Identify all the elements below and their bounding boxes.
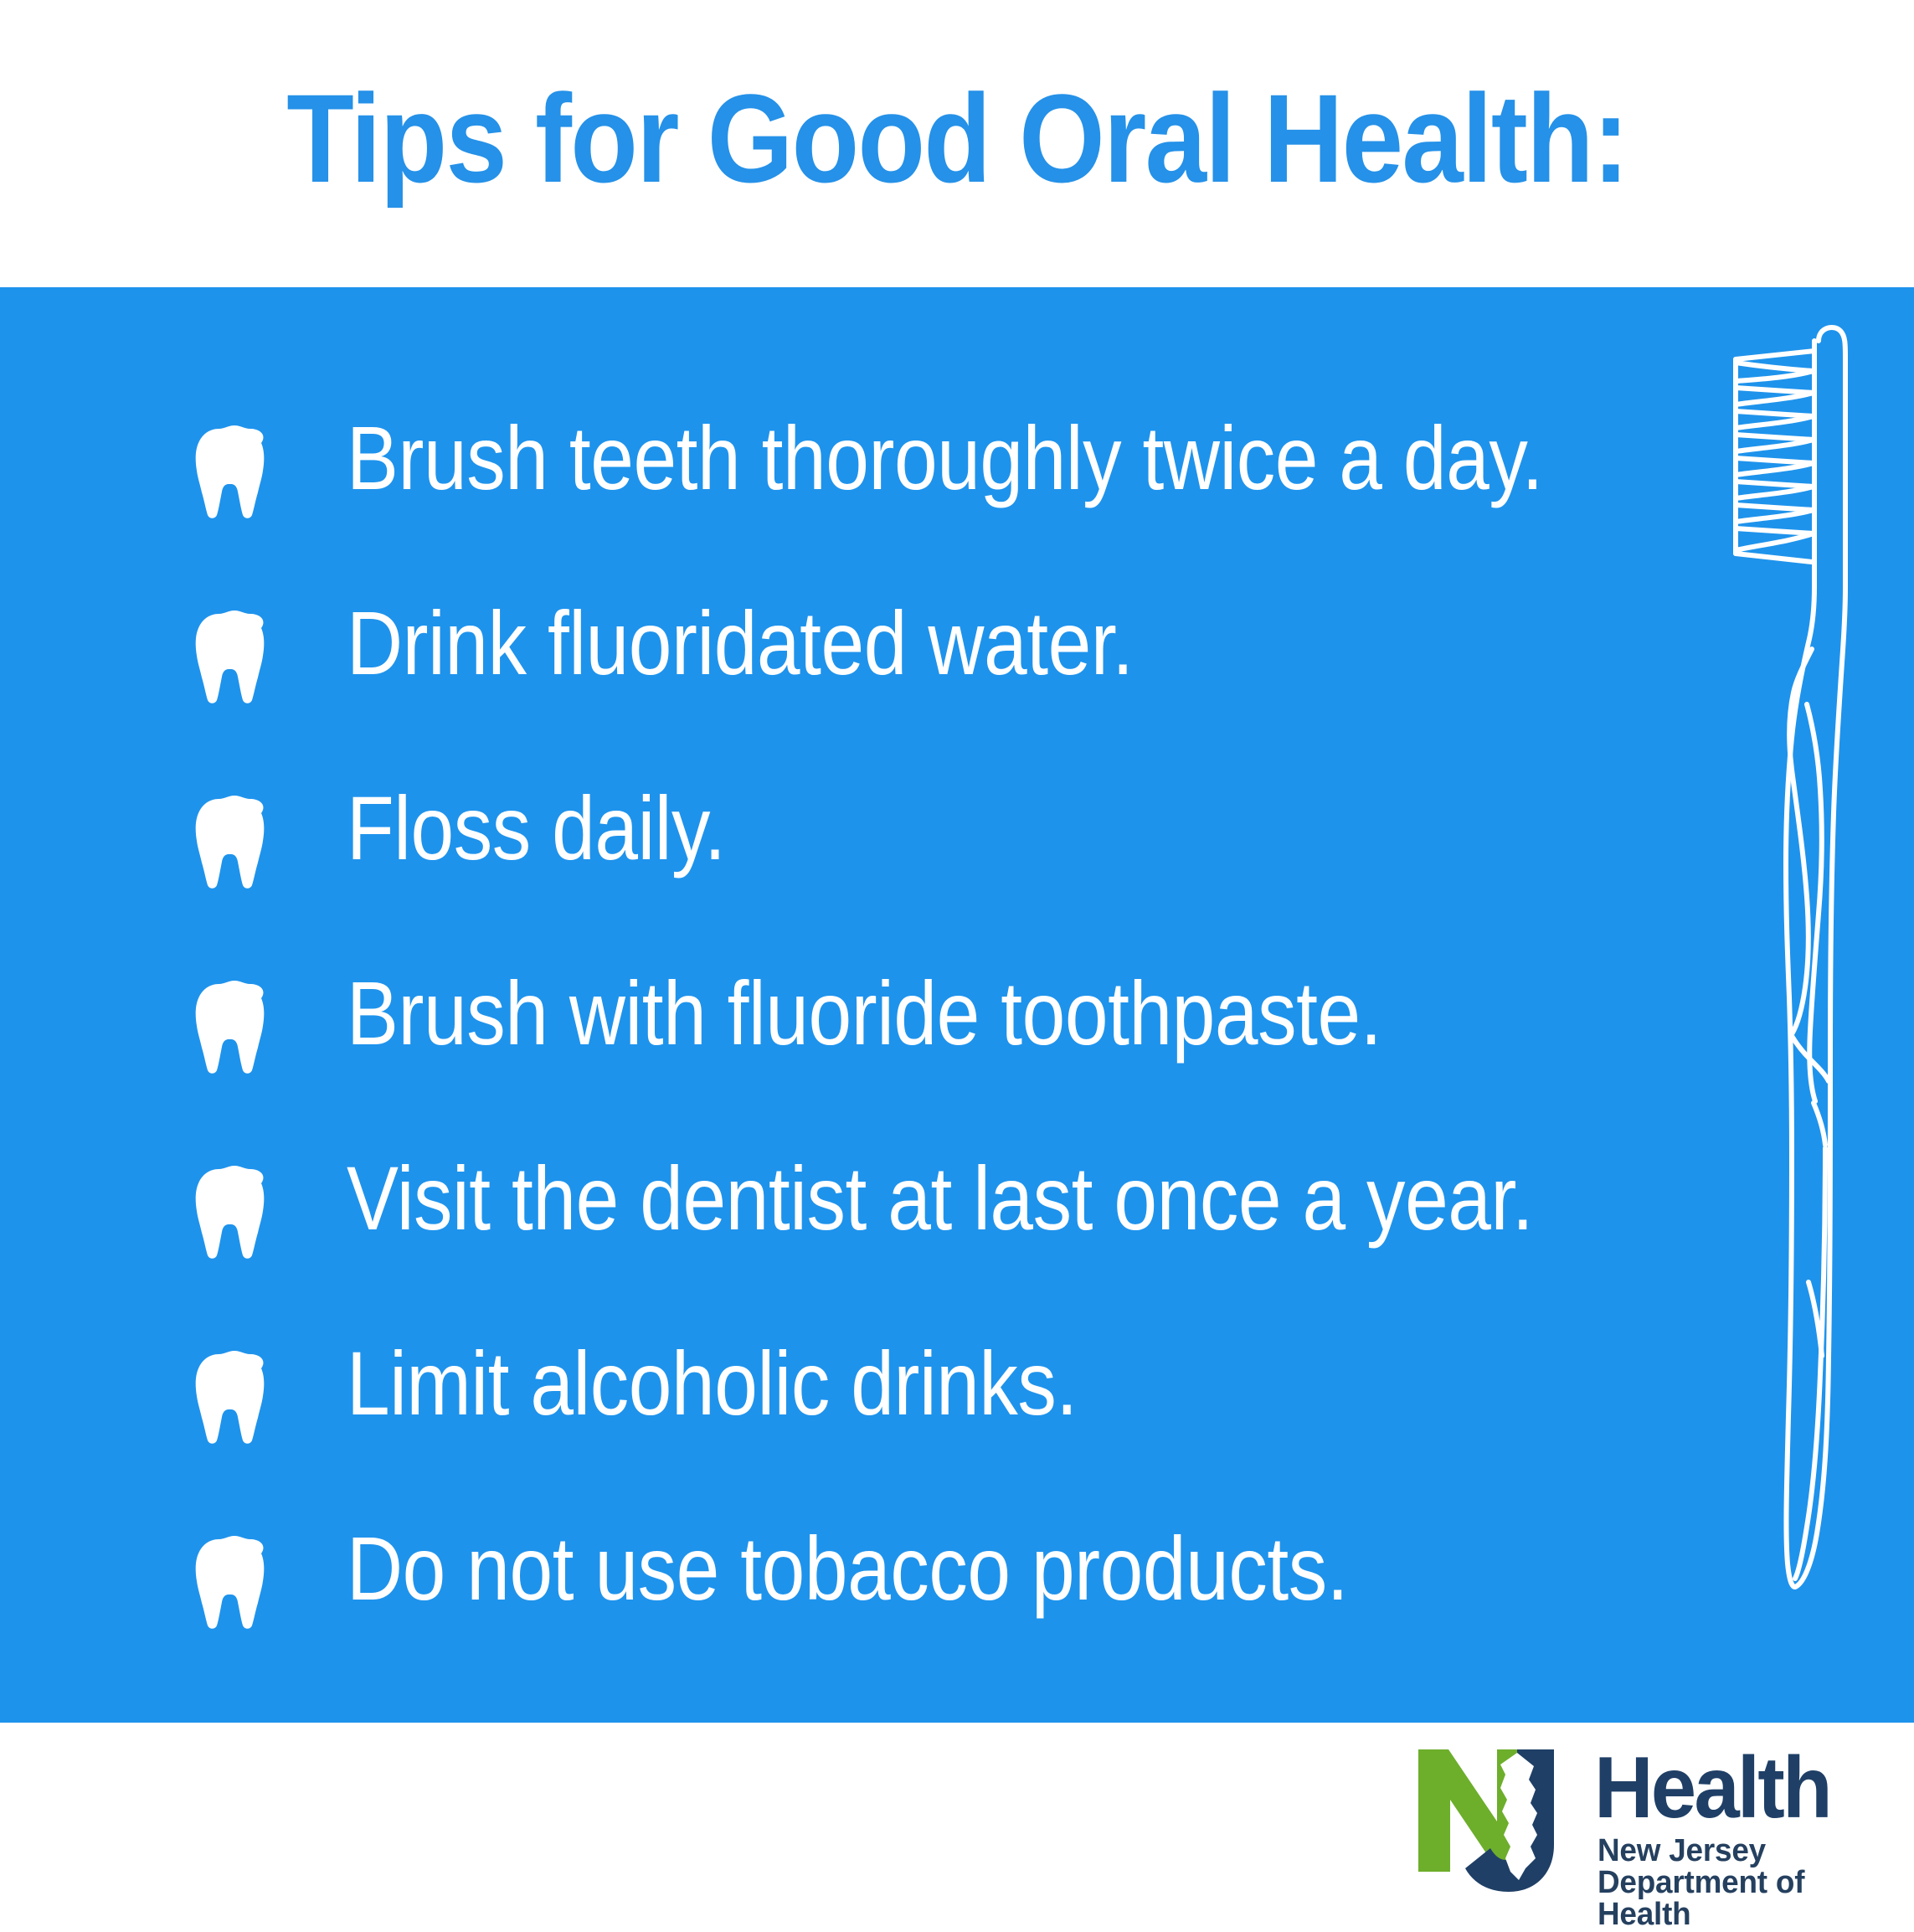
list-item: Drink fluoridated water. [194, 598, 1651, 783]
list-item: Brush with fluoride toothpaste. [194, 968, 1651, 1153]
footer-band: Health New Jersey Department of Health [0, 1723, 1914, 1914]
tip-label: Limit alcoholic drinks. [347, 1338, 1078, 1429]
infographic-poster: Tips for Good Oral Health: Brush teeth t… [0, 0, 1914, 1914]
list-item: Do not use tobacco products. [194, 1523, 1651, 1708]
list-item: Limit alcoholic drinks. [194, 1338, 1651, 1523]
tip-label: Drink fluoridated water. [347, 598, 1134, 688]
blue-content-panel: Brush teeth thoroughly twice a day. Drin… [0, 287, 1914, 1723]
title-band: Tips for Good Oral Health: [0, 0, 1914, 287]
tooth-icon [194, 608, 275, 704]
tooth-icon [194, 978, 275, 1074]
list-item: Visit the dentist at last once a year. [194, 1153, 1651, 1338]
tip-label: Visit the dentist at last once a year. [347, 1153, 1533, 1244]
tooth-icon [194, 793, 275, 889]
tooth-icon [194, 423, 275, 519]
nj-state-outline-icon [1412, 1741, 1618, 1897]
tips-list: Brush teeth thoroughly twice a day. Drin… [194, 413, 1651, 1708]
toothbrush-illustration [1708, 311, 1914, 1651]
list-item: Floss daily. [194, 783, 1651, 968]
tip-label: Brush teeth thoroughly twice a day. [347, 413, 1543, 503]
logo-wordmark: Health [1594, 1744, 1830, 1832]
page-title: Tips for Good Oral Health: [286, 75, 1628, 201]
tooth-icon [194, 1348, 275, 1445]
nj-health-logo: Health New Jersey Department of Health [1412, 1741, 1894, 1897]
list-item: Brush teeth thoroughly twice a day. [194, 413, 1651, 598]
tip-label: Brush with fluoride toothpaste. [347, 968, 1381, 1059]
tooth-icon [194, 1533, 275, 1630]
tip-label: Floss daily. [347, 783, 725, 873]
tooth-icon [194, 1163, 275, 1260]
tip-label: Do not use tobacco products. [347, 1523, 1348, 1614]
logo-tagline: New Jersey Department of Health [1598, 1835, 1885, 1930]
